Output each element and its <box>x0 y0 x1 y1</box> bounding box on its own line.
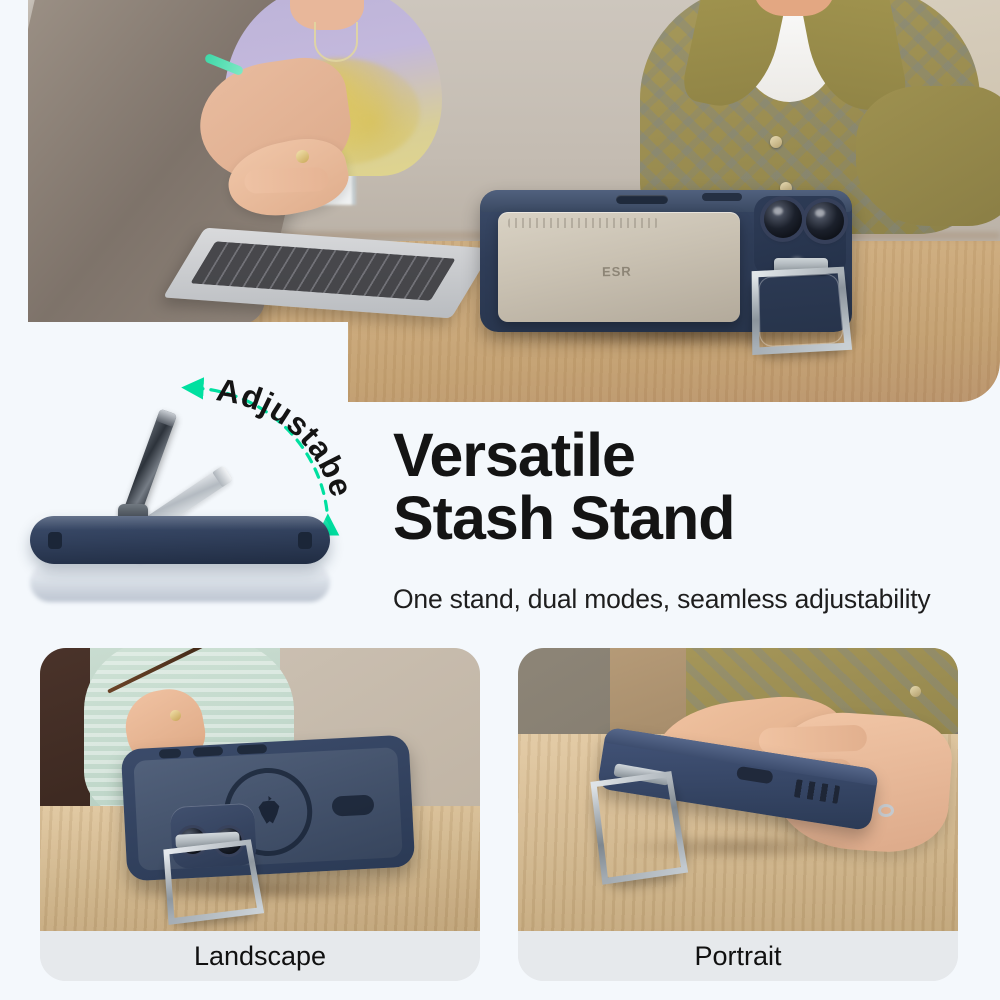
card-landscape-photo <box>40 648 480 931</box>
camera-lens <box>764 200 802 238</box>
page-subtitle: One stand, dual modes, seamless adjustab… <box>393 584 993 615</box>
esr-logo: ESR <box>602 264 632 280</box>
base-notch-right <box>298 532 312 549</box>
case-power-button <box>702 193 742 201</box>
page-title: Versatile Stash Stand <box>393 424 993 550</box>
stand-base-navy <box>30 516 330 564</box>
man-button <box>770 136 782 148</box>
card-portrait-caption: Portrait <box>518 931 958 981</box>
man-arm <box>856 86 1000 226</box>
rc-button <box>910 686 921 697</box>
lc-metal-ring-kickstand <box>163 839 264 925</box>
case-volume-button <box>616 195 668 204</box>
adjustable-stand-illustration: Adjustabe <box>18 356 378 618</box>
card-landscape: Landscape <box>40 648 480 981</box>
card-portrait: Portrait <box>518 648 958 981</box>
woman-ring <box>296 150 309 163</box>
base-reflection <box>30 562 330 602</box>
lc-phone-case <box>121 735 416 882</box>
lc-accent-pill <box>331 794 374 816</box>
card-landscape-caption: Landscape <box>40 931 480 981</box>
rc-metal-ring-kickstand <box>590 771 688 885</box>
rc-case-vents <box>794 779 840 804</box>
woman-necklace <box>314 22 358 62</box>
base-notch-left <box>48 532 62 549</box>
rc-ring <box>878 804 894 817</box>
metal-ring-kickstand <box>752 267 853 355</box>
headline-line-2: Stash Stand <box>393 487 993 550</box>
lc-ring <box>170 710 181 721</box>
magnetic-power-bank: ESR <box>498 212 740 322</box>
hero-photo: ESR <box>28 0 1000 402</box>
case-vents <box>534 200 556 210</box>
camera-lens <box>806 202 844 240</box>
headline-line-1: Versatile <box>393 424 993 487</box>
card-portrait-photo <box>518 648 958 931</box>
